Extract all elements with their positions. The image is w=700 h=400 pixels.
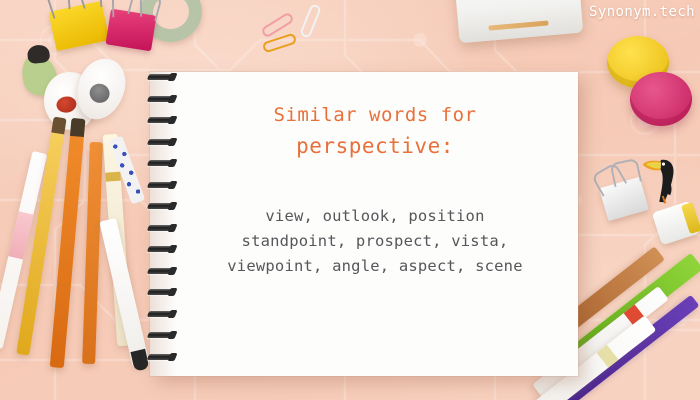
spiral-ring	[147, 203, 175, 209]
camera-grip-strip	[488, 20, 548, 30]
page-title: Similar words for perspective:	[274, 100, 477, 162]
camera-lens	[489, 0, 552, 2]
spiral-ring	[147, 354, 175, 360]
binder-clip-pink	[105, 9, 156, 52]
spiral-ring	[147, 182, 175, 188]
spiral-ring	[147, 289, 175, 295]
synonym-line: viewpoint, angle, aspect, scene	[227, 254, 523, 279]
spiral-ring	[147, 117, 175, 123]
bird-eraser-head	[27, 44, 51, 64]
synonym-line: view, outlook, position	[227, 204, 523, 229]
spiral-ring	[147, 139, 175, 145]
spiral-binding	[148, 74, 178, 374]
macaron-pink	[630, 72, 692, 126]
title-line-1: Similar words for	[274, 100, 477, 130]
spiral-ring	[147, 311, 175, 317]
synonym-line: standpoint, prospect, vista,	[227, 229, 523, 254]
notebook-content: Similar words for perspective: view, out…	[180, 72, 570, 376]
spiral-ring	[147, 246, 175, 252]
synonym-list: view, outlook, position standpoint, pros…	[227, 204, 523, 279]
spiral-ring	[147, 225, 175, 231]
notebook-page: Similar words for perspective: view, out…	[150, 72, 578, 376]
title-line-2-keyword: perspective:	[274, 130, 477, 162]
spiral-ring	[147, 96, 175, 102]
spiral-ring	[147, 268, 175, 274]
spiral-ring	[147, 160, 175, 166]
site-watermark: Synonym.tech	[589, 4, 695, 20]
spiral-ring	[147, 332, 175, 338]
spiral-ring	[147, 74, 175, 80]
